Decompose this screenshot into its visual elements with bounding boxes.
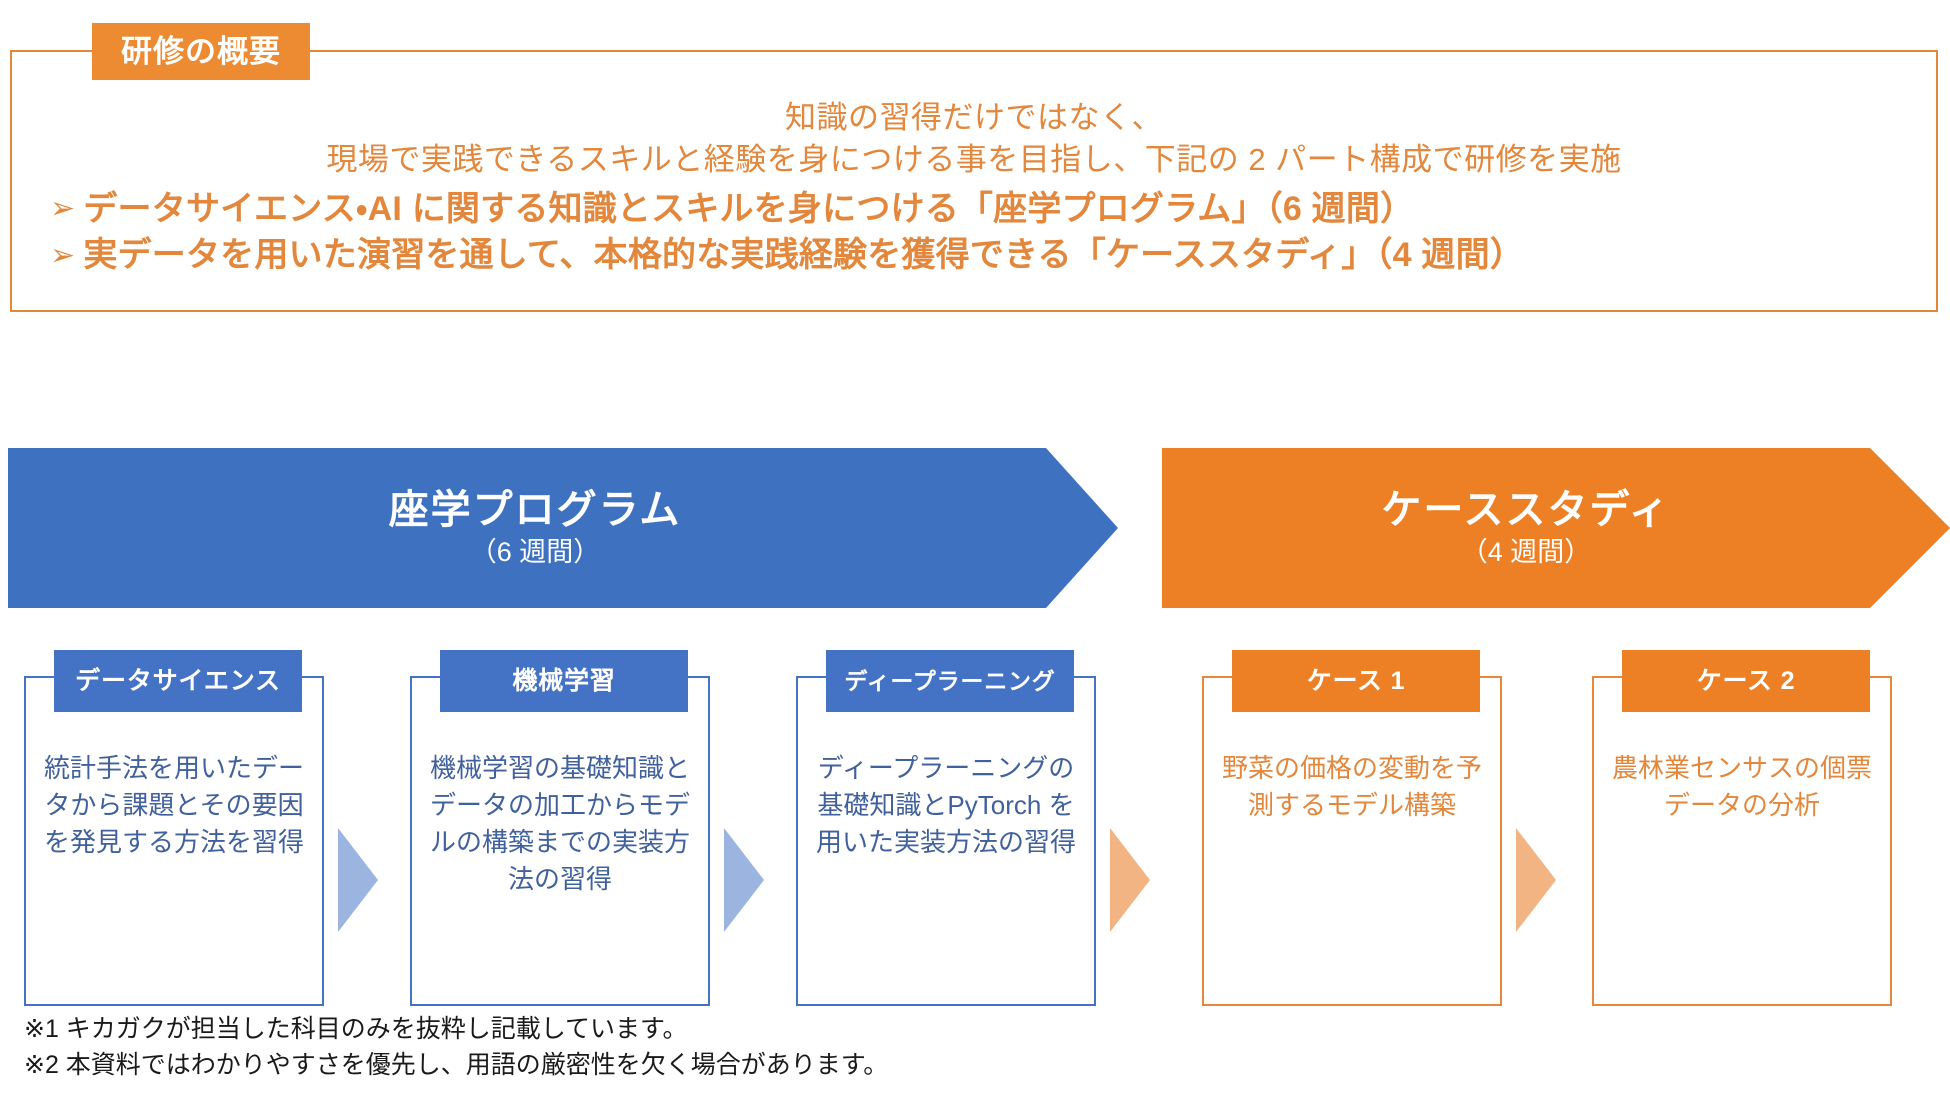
overview-bullet-2: ➢ 実データを用いた演習を通して、本格的な実践経験を獲得できる「ケーススタディ」… (36, 235, 1912, 275)
card-data-science-title: データサイエンス (75, 669, 281, 694)
phase-banner-casestudy-title: ケーススタディ (1381, 488, 1670, 532)
card-case-1-header: ケース 1 (1232, 650, 1480, 712)
overview-bullet-2-text: 実データを用いた演習を通して、本格的な実践経験を獲得できる「ケーススタディ」（4… (83, 235, 1524, 275)
phase-banner-lecture: 座学プログラム （6 週間） (8, 448, 1118, 608)
phase-banner-lecture-duration: （6 週間） (470, 538, 601, 568)
phase-banner-row: 座学プログラム （6 週間） ケーススタディ （4 週間） (0, 448, 1950, 608)
overview-bullet-1-text: データサイエンス・AI に関する知識とスキルを身につける「座学プログラム」（6 … (83, 189, 1414, 229)
card-deep-learning-title: ディープラーニング (844, 670, 1055, 693)
card-deep-learning: ディープラーニング ディープラーニングの基礎知識とPyTorch を用いた実装方… (796, 676, 1096, 1006)
card-data-science-header: データサイエンス (54, 650, 302, 712)
card-case-2: ケース 2 農林業センサスの個票データの分析 (1592, 676, 1892, 1006)
card-data-science-body: 統計手法を用いたデータから課題とその要因を発見する方法を習得 (26, 750, 322, 861)
card-case-2-title: ケース 2 (1697, 669, 1796, 694)
card-case-2-header: ケース 2 (1622, 650, 1870, 712)
card-data-science: データサイエンス 統計手法を用いたデータから課題とその要因を発見する方法を習得 (24, 676, 324, 1006)
connector-arrow-icon-1 (338, 828, 378, 932)
bullet-arrow-icon: ➢ (50, 241, 75, 271)
connector-arrow-icon-4 (1516, 828, 1556, 932)
card-machine-learning: 機械学習 機械学習の基礎知識とデータの加工からモデルの構築までの実装方法の習得 (410, 676, 710, 1006)
card-case-1: ケース 1 野菜の価格の変動を予測するモデル構築 (1202, 676, 1502, 1006)
card-case-1-title: ケース 1 (1307, 669, 1406, 694)
card-case-2-body: 農林業センサスの個票データの分析 (1594, 750, 1890, 824)
overview-title-tab: 研修の概要 (92, 23, 310, 80)
overview-title-label: 研修の概要 (121, 36, 281, 67)
footnote-2: ※2 本資料ではわかりやすさを優先し、用語の厳密性を欠く場合があります。 (24, 1048, 888, 1084)
card-machine-learning-body: 機械学習の基礎知識とデータの加工からモデルの構築までの実装方法の習得 (412, 750, 708, 898)
footnote-1: ※1 キカガクが担当した科目のみを抜粋し記載しています。 (24, 1012, 888, 1048)
footnotes: ※1 キカガクが担当した科目のみを抜粋し記載しています。 ※2 本資料ではわかり… (24, 1012, 888, 1083)
overview-intro-line-1: 知識の習得だけではなく、 (36, 98, 1912, 138)
bullet-arrow-icon: ➢ (50, 194, 75, 224)
card-machine-learning-title: 機械学習 (512, 669, 615, 694)
card-deep-learning-body: ディープラーニングの基礎知識とPyTorch を用いた実装方法の習得 (798, 750, 1094, 861)
connector-arrow-icon-2 (724, 828, 764, 932)
card-deep-learning-header: ディープラーニング (826, 650, 1074, 712)
phase-banner-casestudy-duration: （4 週間） (1461, 538, 1592, 568)
phase-banner-casestudy: ケーススタディ （4 週間） (1162, 448, 1950, 608)
overview-bullet-1: ➢ データサイエンス・AI に関する知識とスキルを身につける「座学プログラム」（… (36, 189, 1912, 229)
connector-arrow-icon-3 (1110, 828, 1150, 932)
card-machine-learning-header: 機械学習 (440, 650, 688, 712)
phase-banner-lecture-title: 座学プログラム (389, 488, 682, 532)
card-case-1-body: 野菜の価格の変動を予測するモデル構築 (1204, 750, 1500, 824)
overview-intro-line-2: 現場で実践できるスキルと経験を身につける事を目指し、下記の 2 パート構成で研修… (36, 140, 1912, 180)
overview-content: 知識の習得だけではなく、 現場で実践できるスキルと経験を身につける事を目指し、下… (10, 50, 1938, 312)
curriculum-cards-row: データサイエンス 統計手法を用いたデータから課題とその要因を発見する方法を習得 … (0, 648, 1950, 1006)
